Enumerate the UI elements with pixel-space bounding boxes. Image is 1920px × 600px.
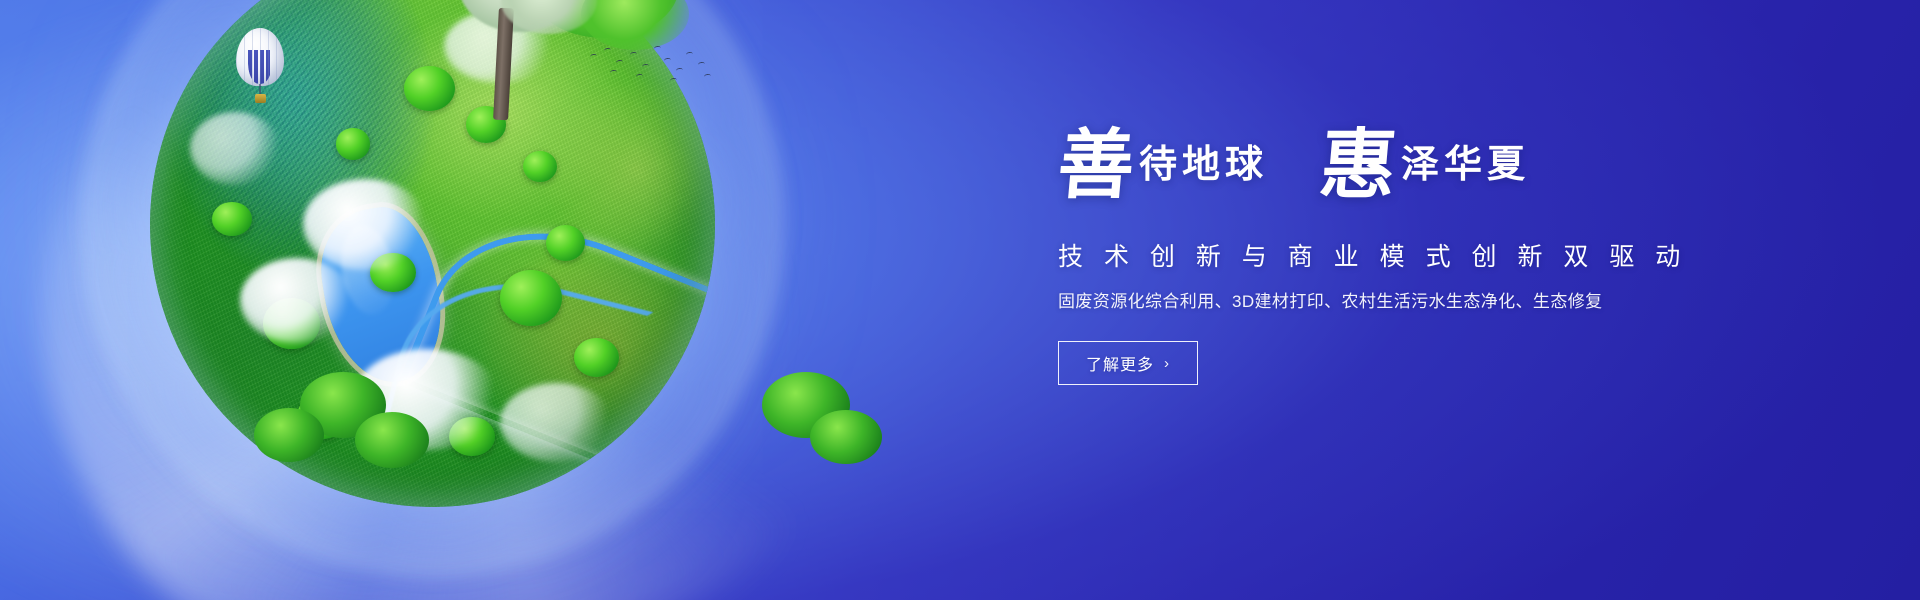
learn-more-button[interactable]: 了解更多 › (1058, 341, 1198, 385)
hero-description: 固废资源化综合利用、3D建材打印、农村生活污水生态净化、生态修复 (1058, 291, 1698, 313)
balloon-basket (255, 94, 266, 103)
cloud-icon (190, 112, 280, 185)
learn-more-label: 了解更多 (1086, 351, 1154, 375)
tree-canopy-icon (336, 128, 370, 159)
headline-char-large-2: 惠 (1317, 128, 1401, 204)
tree-canopy (581, 0, 689, 50)
hero-banner: 善待地球惠泽华夏 技 术 创 新 与 商 业 模 式 创 新 双 驱 动 固废资… (0, 0, 1920, 600)
headline-char-large-1: 善 (1055, 128, 1139, 204)
foreground-foliage (355, 412, 429, 468)
headline-chars-small-1: 待地球 (1139, 146, 1268, 184)
headline-chars-small-2: 泽华夏 (1401, 146, 1530, 184)
cloud-icon (500, 383, 613, 462)
tree-canopy-icon (574, 338, 619, 378)
foreground-foliage (254, 408, 324, 462)
balloon-envelope (236, 28, 284, 86)
page-title: 善待地球惠泽华夏 (1058, 128, 1698, 220)
chevron-right-icon: › (1164, 356, 1170, 371)
cloud-icon (240, 258, 353, 343)
tree-canopy-icon (546, 225, 586, 262)
hero-subtitle: 技 术 创 新 与 商 业 模 式 创 新 双 驱 动 (1058, 242, 1698, 272)
balloon-gores (236, 28, 284, 86)
bird-flock-icon (586, 44, 716, 90)
tree-canopy-icon (523, 151, 557, 182)
cloud-icon (303, 179, 427, 269)
hero-copy: 善待地球惠泽华夏 技 术 创 新 与 商 业 模 式 创 新 双 驱 动 固废资… (1058, 128, 1698, 385)
tree-canopy-icon (212, 202, 252, 236)
hot-air-balloon-icon (236, 28, 284, 112)
foreground-foliage (810, 410, 882, 464)
